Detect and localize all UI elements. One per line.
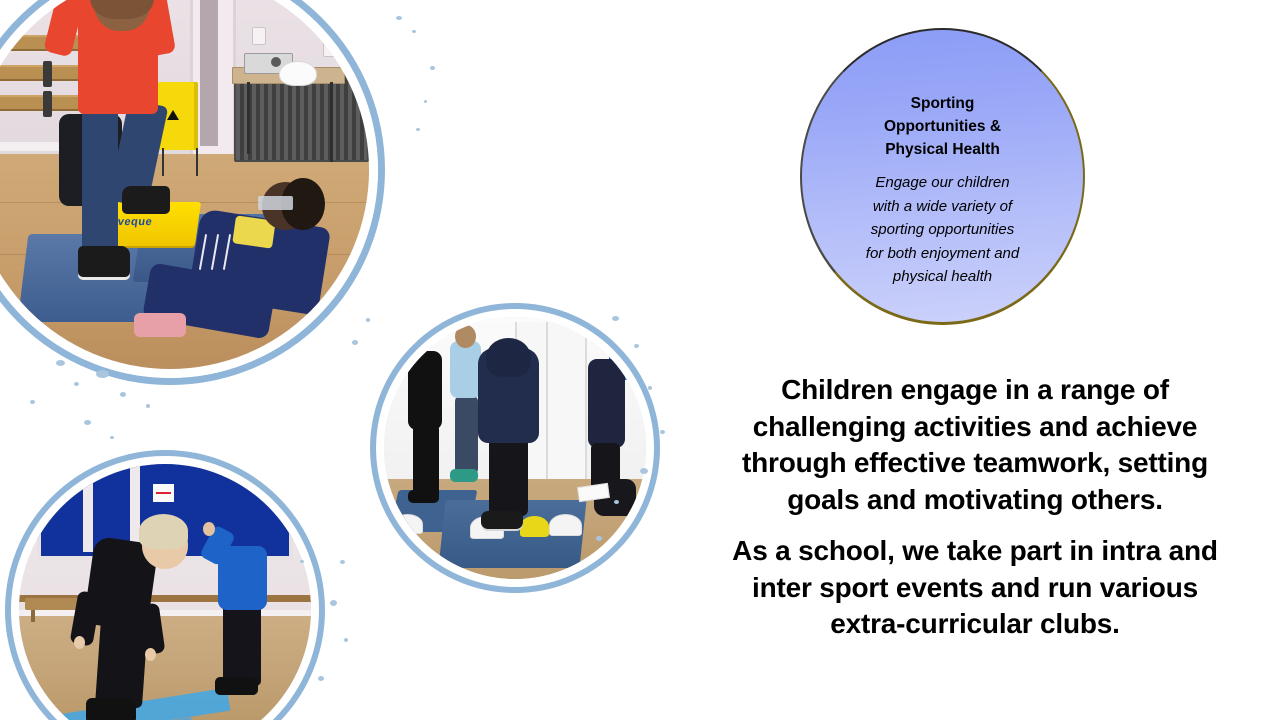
paint-speck <box>648 386 652 390</box>
badge-subtitle-line-5: physical health <box>835 265 1050 289</box>
paint-speck <box>74 382 79 386</box>
paint-speck <box>344 638 348 642</box>
paint-speck <box>56 360 65 366</box>
photo-collage: Eveque <box>0 0 700 720</box>
body-paragraph-2: As a school, we take part in intra and i… <box>715 533 1235 643</box>
body-paragraph-1: Children engage in a range of challengin… <box>715 372 1235 518</box>
sporting-opportunities-badge: Sporting Opportunities & Physical Health… <box>800 28 1085 325</box>
paint-speck <box>634 344 639 348</box>
paint-speck <box>640 468 648 474</box>
paint-speck <box>146 404 150 408</box>
badge-subtitle-line-1: Engage our children <box>835 171 1050 195</box>
paint-speck <box>430 66 435 70</box>
paint-speck <box>416 128 420 131</box>
badge-title-line-1: Sporting <box>843 92 1043 115</box>
paint-speck <box>596 536 602 541</box>
paint-speck <box>330 600 337 606</box>
paint-speck <box>366 318 370 322</box>
equipment-label: Eveque <box>109 216 190 228</box>
badge-subtitle: Engage our children with a wide variety … <box>835 171 1050 289</box>
photo-child-jumping-on-mat: Eveque <box>0 0 369 369</box>
badge-title-line-2: Opportunities & <box>843 115 1043 138</box>
paint-speck <box>84 420 91 425</box>
paint-speck <box>96 370 109 378</box>
paint-speck <box>110 436 114 439</box>
photo-boy-jumping-tape-line <box>19 464 311 720</box>
paint-speck <box>300 560 304 563</box>
body-text-block: Children engage in a range of challengin… <box>715 372 1235 643</box>
paint-speck <box>660 430 665 434</box>
paint-speck <box>612 316 619 321</box>
photo-frame-group-mats <box>370 303 660 593</box>
badge-title-line-3: Physical Health <box>843 138 1043 161</box>
paint-speck <box>120 392 126 397</box>
paint-speck <box>614 500 619 504</box>
paint-speck <box>340 560 345 564</box>
slide-canvas: Eveque <box>0 0 1280 720</box>
paint-speck <box>352 340 358 345</box>
paint-speck <box>396 16 402 20</box>
paint-speck <box>424 100 427 103</box>
paint-speck <box>412 30 416 33</box>
photo-frame-boy-jumping <box>5 450 325 720</box>
badge-subtitle-line-3: sporting opportunities <box>835 218 1050 242</box>
paint-speck <box>318 676 324 681</box>
photo-group-balance-mats <box>384 317 646 579</box>
badge-subtitle-line-4: for both enjoyment and <box>835 242 1050 266</box>
photo-frame-child-jumping: Eveque <box>0 0 385 385</box>
badge-title: Sporting Opportunities & Physical Health <box>843 92 1043 161</box>
paint-speck <box>30 400 35 404</box>
badge-subtitle-line-2: with a wide variety of <box>835 195 1050 219</box>
